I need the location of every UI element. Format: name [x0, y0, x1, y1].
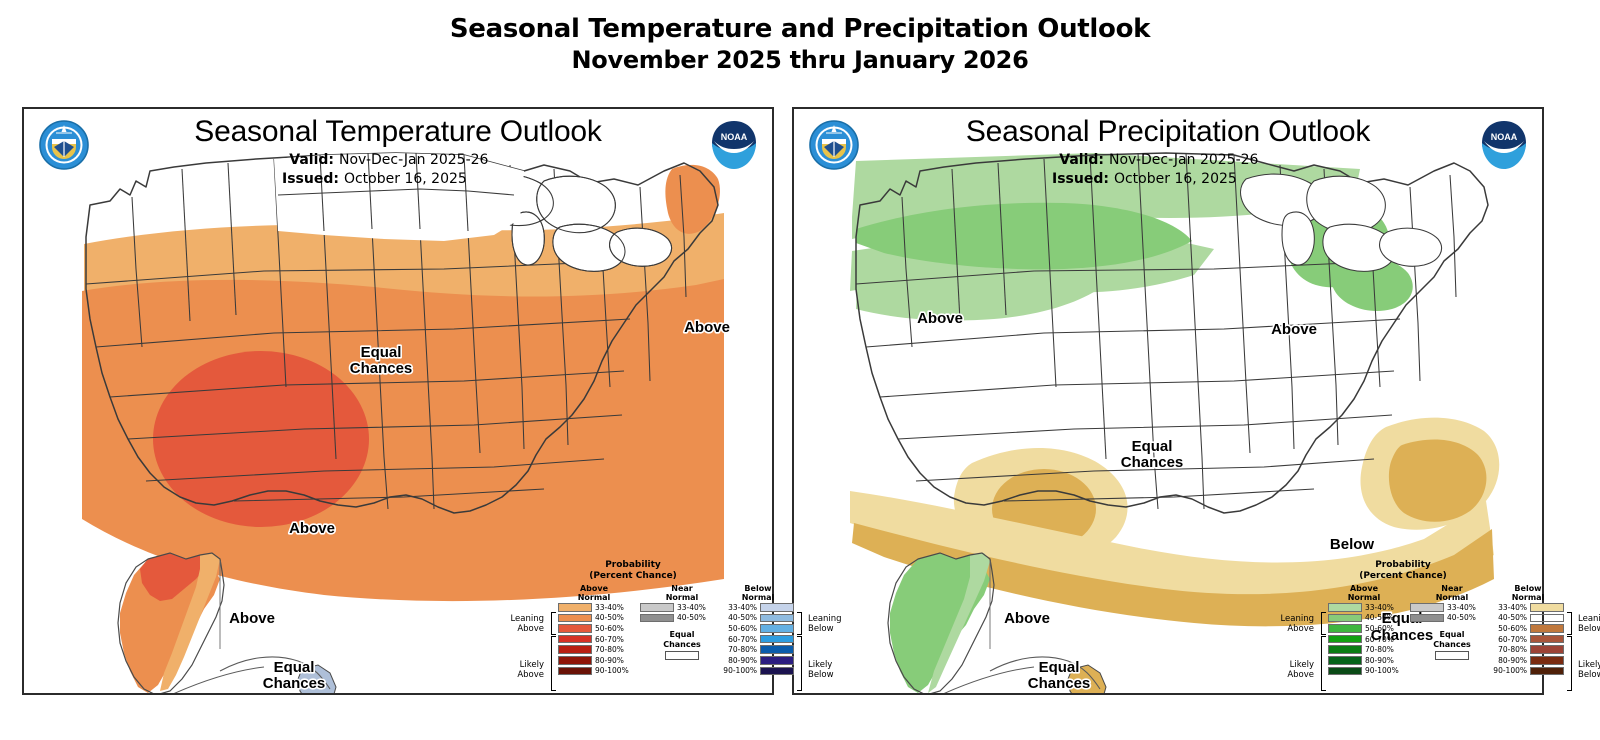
legend-swatch-row: 40-50% — [640, 613, 724, 624]
legend-swatch-label: 40-50% — [1365, 613, 1394, 622]
legend-swatch-label: 80-90% — [728, 656, 757, 665]
legend-swatch — [1328, 656, 1362, 665]
temperature-meta: Valid:Nov-Dec-Jan 2025-26 Issued:October… — [282, 151, 488, 189]
legend-swatch — [1410, 603, 1444, 612]
legend-swatch-row: 70-80% — [558, 644, 630, 655]
legend-below-swatches: 33-40%40-50%50-60%60-70%70-80%80-90%90-1… — [722, 602, 794, 676]
legend-swatch — [640, 603, 674, 612]
legend-equal-chances-swatch — [1435, 651, 1469, 660]
legend-swatch-row: 40-50% — [722, 613, 794, 624]
legend-swatch-row: 80-90% — [1492, 655, 1564, 666]
legend-swatch — [760, 614, 794, 623]
legend-swatch — [640, 614, 674, 623]
svg-text:Chances: Chances — [263, 675, 326, 692]
legend-swatch-label: 60-70% — [595, 635, 624, 644]
outlook-page: Seasonal Temperature and Precipitation O… — [0, 0, 1600, 740]
legend-swatch-row: 33-40% — [1328, 602, 1400, 613]
svg-text:Equal: Equal — [274, 659, 315, 676]
svg-text:Equal: Equal — [361, 344, 402, 361]
legend-swatch — [760, 635, 794, 644]
legend-leaning-below-label: Leaning Below — [1578, 614, 1600, 634]
precipitation-legend: Probability (Percent Chance) Leaning Abo… — [1262, 560, 1544, 690]
page-title: Seasonal Temperature and Precipitation O… — [0, 14, 1600, 76]
legend-swatch-row: 70-80% — [1328, 644, 1400, 655]
legend-swatch-label: 80-90% — [1365, 656, 1394, 665]
legend-swatch — [1530, 624, 1564, 633]
legend-swatch — [1530, 603, 1564, 612]
legend-swatch-label: 80-90% — [1498, 656, 1527, 665]
legend-below-header: Below Normal — [722, 584, 794, 602]
legend-near-swatches: 33-40%40-50% — [640, 602, 724, 623]
legend-swatch-label: 60-70% — [1498, 635, 1527, 644]
legend-swatch-label: 33-40% — [595, 603, 624, 612]
legend-swatch — [558, 645, 592, 654]
legend-brace-right — [797, 612, 805, 691]
legend-swatch-row: 90-100% — [722, 666, 794, 677]
legend-swatch-row: 40-50% — [1492, 613, 1564, 624]
legend-swatch-label: 70-80% — [595, 645, 624, 654]
legend-below-column: Below Normal 33-40%40-50%50-60%60-70%70-… — [1492, 584, 1564, 676]
legend-right-labels: Leaning Below Likely Below — [1578, 614, 1600, 680]
legend-below-column: Below Normal 33-40%40-50%50-60%60-70%70-… — [722, 584, 794, 676]
legend-swatch-label: 50-60% — [728, 624, 757, 633]
svg-text:Above: Above — [1271, 321, 1317, 338]
legend-leaning-above-label: Leaning Above — [1262, 614, 1314, 634]
svg-text:Equal: Equal — [1039, 659, 1080, 676]
legend-swatch — [760, 656, 794, 665]
legend-swatch-label: 90-100% — [1493, 666, 1527, 675]
legend-swatch-label: 40-50% — [728, 613, 757, 622]
legend-swatch-label: 90-100% — [595, 666, 629, 675]
legend-swatch-row: 60-70% — [1492, 634, 1564, 645]
legend-swatch-label: 80-90% — [595, 656, 624, 665]
legend-equal-chances-swatch — [665, 651, 699, 660]
legend-swatch — [1530, 645, 1564, 654]
legend-swatch-label: 70-80% — [1365, 645, 1394, 654]
legend-title-line1: Probability — [1262, 560, 1544, 571]
svg-text:Chances: Chances — [1121, 454, 1184, 471]
legend-above-swatches: 33-40%40-50%50-60%60-70%70-80%80-90%90-1… — [558, 602, 630, 676]
legend-swatch-label: 90-100% — [1365, 666, 1399, 675]
legend-likely-below-label: Likely Below — [808, 660, 858, 680]
legend-swatch-label: 70-80% — [728, 645, 757, 654]
legend-swatch — [558, 656, 592, 665]
svg-text:Above: Above — [684, 319, 730, 336]
legend-swatch-row: 33-40% — [1492, 602, 1564, 613]
legend-equal-chances-label: Equal Chances — [640, 630, 724, 649]
legend-likely-above-label: Likely Above — [492, 660, 544, 680]
legend-swatch — [1328, 667, 1362, 676]
legend-swatch — [760, 667, 794, 676]
legend-near-header: Near Normal — [640, 584, 724, 602]
legend-swatch — [1328, 645, 1362, 654]
legend-swatch — [1328, 635, 1362, 644]
legend-swatch — [760, 603, 794, 612]
legend-swatch-row: 90-100% — [1492, 666, 1564, 677]
valid-value: Nov-Dec-Jan 2025-26 — [339, 152, 488, 168]
legend-swatch — [760, 624, 794, 633]
legend-swatch-row: 50-60% — [1492, 623, 1564, 634]
legend-swatch — [1530, 667, 1564, 676]
issued-value: October 16, 2025 — [1114, 171, 1237, 187]
legend-swatch-row: 33-40% — [722, 602, 794, 613]
legend-brace-left — [549, 612, 557, 691]
issued-key: Issued: — [1052, 170, 1109, 189]
legend-swatch-row: 80-90% — [558, 655, 630, 666]
legend-swatch — [558, 614, 592, 623]
legend-title-line2: (Percent Chance) — [492, 571, 774, 582]
legend-swatch-row: 60-70% — [558, 634, 630, 645]
page-title-line1: Seasonal Temperature and Precipitation O… — [0, 14, 1600, 45]
legend-likely-below-label: Likely Below — [1578, 660, 1600, 680]
legend-swatch — [1328, 614, 1362, 623]
legend-swatch-label: 33-40% — [1447, 603, 1476, 612]
temperature-map-title: Seasonal Temperature Outlook — [24, 115, 772, 149]
valid-key: Valid: — [1052, 151, 1104, 170]
legend-swatch-label: 90-100% — [723, 666, 757, 675]
legend-swatch-label: 33-40% — [677, 603, 706, 612]
legend-near-header: Near Normal — [1410, 584, 1494, 602]
legend-brace-left — [1319, 612, 1327, 691]
legend-swatch-row: 40-50% — [558, 613, 630, 624]
legend-below-header: Below Normal — [1492, 584, 1564, 602]
legend-swatch-label: 50-60% — [1498, 624, 1527, 633]
legend-title-line1: Probability — [492, 560, 774, 571]
legend-swatch-label: 40-50% — [677, 613, 706, 622]
svg-text:Chances: Chances — [1028, 675, 1091, 692]
svg-text:Chances: Chances — [350, 360, 413, 377]
svg-text:Equal: Equal — [1132, 438, 1173, 455]
legend-swatch-label: 50-60% — [1365, 624, 1394, 633]
legend-swatch-row: 70-80% — [722, 644, 794, 655]
legend-swatch-label: 50-60% — [595, 624, 624, 633]
legend-swatch-row: 40-50% — [1328, 613, 1400, 624]
issued-value: October 16, 2025 — [344, 171, 467, 187]
valid-key: Valid: — [282, 151, 334, 170]
legend-swatch-label: 33-40% — [1365, 603, 1394, 612]
legend-swatch-label: 33-40% — [1498, 603, 1527, 612]
legend-swatch — [1328, 603, 1362, 612]
legend-swatch — [1530, 635, 1564, 644]
precipitation-meta: Valid:Nov-Dec-Jan 2025-26 Issued:October… — [1052, 151, 1258, 189]
legend-swatch-row: 90-100% — [558, 666, 630, 677]
legend-likely-above-label: Likely Above — [1262, 660, 1314, 680]
legend-above-header: Above Normal — [558, 584, 630, 602]
svg-text:Above: Above — [1004, 610, 1050, 627]
svg-text:Above: Above — [229, 610, 275, 627]
legend-above-column: Above Normal 33-40%40-50%50-60%60-70%70-… — [1328, 584, 1400, 676]
legend-near-swatches: 33-40%40-50% — [1410, 602, 1494, 623]
temperature-legend: Probability (Percent Chance) Leaning Abo… — [492, 560, 774, 690]
legend-swatch — [558, 667, 592, 676]
legend-title: Probability (Percent Chance) — [492, 560, 774, 582]
legend-swatch — [558, 603, 592, 612]
legend-near-column: Near Normal 33-40%40-50% Equal Chances — [640, 584, 724, 660]
legend-title: Probability (Percent Chance) — [1262, 560, 1544, 582]
legend-swatch-row: 33-40% — [1410, 602, 1494, 613]
legend-swatch-row: 60-70% — [722, 634, 794, 645]
legend-above-column: Above Normal 33-40%40-50%50-60%60-70%70-… — [558, 584, 630, 676]
legend-title-line2: (Percent Chance) — [1262, 571, 1544, 582]
legend-swatch — [558, 624, 592, 633]
precipitation-map-title: Seasonal Precipitation Outlook — [794, 115, 1542, 149]
legend-swatch — [1530, 614, 1564, 623]
legend-swatch-row: 60-70% — [1328, 634, 1400, 645]
legend-leaning-above-label: Leaning Above — [492, 614, 544, 634]
valid-value: Nov-Dec-Jan 2025-26 — [1109, 152, 1258, 168]
legend-swatch-label: 60-70% — [728, 635, 757, 644]
legend-swatch-row: 70-80% — [1492, 644, 1564, 655]
svg-text:Above: Above — [289, 520, 335, 537]
legend-right-labels: Leaning Below Likely Below — [808, 614, 858, 680]
legend-swatch-label: 40-50% — [1447, 613, 1476, 622]
issued-key: Issued: — [282, 170, 339, 189]
legend-below-swatches: 33-40%40-50%50-60%60-70%70-80%80-90%90-1… — [1492, 602, 1564, 676]
legend-swatch-row: 80-90% — [722, 655, 794, 666]
legend-swatch-label: 33-40% — [728, 603, 757, 612]
legend-swatch — [1328, 624, 1362, 633]
legend-swatch-label: 40-50% — [595, 613, 624, 622]
legend-swatch-row: 40-50% — [1410, 613, 1494, 624]
legend-swatch — [1530, 656, 1564, 665]
legend-near-column: Near Normal 33-40%40-50% Equal Chances — [1410, 584, 1494, 660]
legend-swatch-row: 80-90% — [1328, 655, 1400, 666]
legend-swatch — [760, 645, 794, 654]
legend-swatch-row: 50-60% — [1328, 623, 1400, 634]
legend-brace-right — [1567, 612, 1575, 691]
legend-equal-chances-label: Equal Chances — [1410, 630, 1494, 649]
svg-text:Above: Above — [917, 310, 963, 327]
legend-swatch — [558, 635, 592, 644]
legend-swatch-row: 33-40% — [640, 602, 724, 613]
legend-swatch — [1410, 614, 1444, 623]
legend-swatch-row: 50-60% — [558, 623, 630, 634]
legend-swatch-label: 40-50% — [1498, 613, 1527, 622]
page-title-line2: November 2025 thru January 2026 — [0, 45, 1600, 76]
legend-swatch-row: 33-40% — [558, 602, 630, 613]
legend-swatch-label: 60-70% — [1365, 635, 1394, 644]
legend-leaning-below-label: Leaning Below — [808, 614, 858, 634]
legend-swatch-label: 70-80% — [1498, 645, 1527, 654]
legend-above-header: Above Normal — [1328, 584, 1400, 602]
legend-swatch-row: 50-60% — [722, 623, 794, 634]
legend-swatch-row: 90-100% — [1328, 666, 1400, 677]
svg-text:Below: Below — [1330, 536, 1375, 553]
legend-above-swatches: 33-40%40-50%50-60%60-70%70-80%80-90%90-1… — [1328, 602, 1400, 676]
